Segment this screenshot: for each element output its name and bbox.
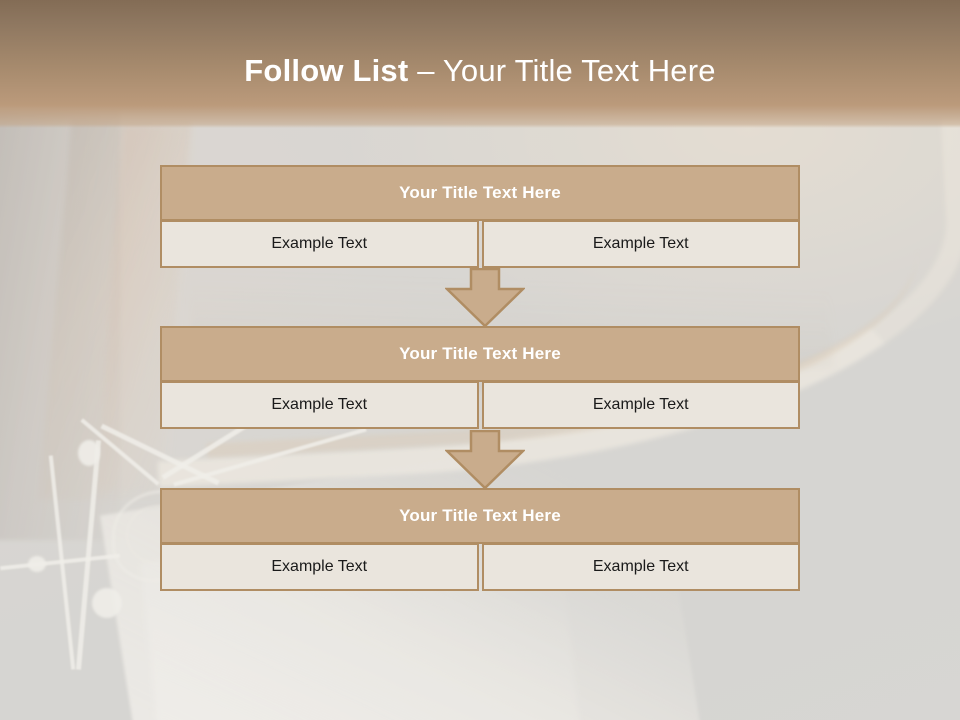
page-title-rest: – Your Title Text Here: [408, 53, 715, 88]
flow-block-2-cells: Example Text Example Text: [160, 381, 800, 429]
flow-block-3-cells: Example Text Example Text: [160, 543, 800, 591]
flow-block-3-cell-right[interactable]: Example Text: [482, 543, 801, 591]
flow-block-1-cell-left[interactable]: Example Text: [160, 220, 479, 268]
flow-block-2-cell-left[interactable]: Example Text: [160, 381, 479, 429]
flow-block-1[interactable]: Your Title Text Here Example Text Exampl…: [160, 165, 800, 268]
flow-block-3-header[interactable]: Your Title Text Here: [160, 488, 800, 544]
flow-block-2[interactable]: Your Title Text Here Example Text Exampl…: [160, 326, 800, 429]
flow-block-2-cell-right[interactable]: Example Text: [482, 381, 801, 429]
flow-block-2-header[interactable]: Your Title Text Here: [160, 326, 800, 382]
page-title-strong: Follow List: [244, 53, 408, 88]
flow-block-1-cells: Example Text Example Text: [160, 220, 800, 268]
arrow-down-icon-2: [445, 430, 525, 490]
flow-block-3[interactable]: Your Title Text Here Example Text Exampl…: [160, 488, 800, 591]
slide-canvas: Follow List – Your Title Text Here Your …: [0, 0, 960, 720]
page-title: Follow List – Your Title Text Here: [0, 50, 960, 92]
flow-block-3-cell-left[interactable]: Example Text: [160, 543, 479, 591]
flow-block-1-cell-right[interactable]: Example Text: [482, 220, 801, 268]
arrow-down-icon-1: [445, 268, 525, 328]
flow-block-1-header[interactable]: Your Title Text Here: [160, 165, 800, 221]
